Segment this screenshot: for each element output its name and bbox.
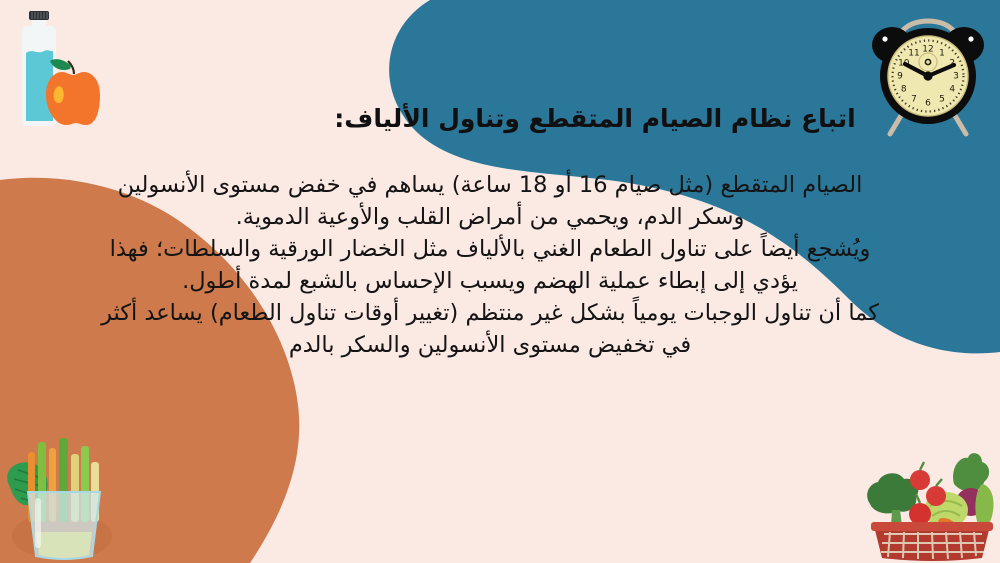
vegetable-basket-icon <box>858 444 998 562</box>
slide-canvas: 12 1 2 3 4 5 6 7 8 9 10 11 <box>0 0 1000 563</box>
glass-shine <box>35 498 41 548</box>
clock-subdial-pin <box>925 59 930 64</box>
tomato-1 <box>910 470 930 490</box>
svg-text:1: 1 <box>939 48 945 58</box>
slide-title: اتباع نظام الصيام المتقطع وتناول الألياف… <box>0 103 1000 134</box>
vegetable-sticks-in-glass-icon <box>2 432 127 562</box>
slide-body: الصيام المتقطع (مثل صيام 16 أو 18 ساعة) … <box>95 170 885 362</box>
svg-text:4: 4 <box>949 85 955 95</box>
body-paragraph-1: الصيام المتقطع (مثل صيام 16 أو 18 ساعة) … <box>95 170 885 234</box>
glass-liquid <box>36 532 92 558</box>
body-paragraph-3: كما أن تناول الوجبات يومياً بشكل غير منت… <box>95 298 885 362</box>
tomato-3 <box>909 503 931 525</box>
tomato-2 <box>926 486 946 506</box>
clock-bell-right-shine <box>968 36 973 41</box>
basket-rim <box>871 522 993 531</box>
svg-text:9: 9 <box>897 72 903 82</box>
svg-text:3: 3 <box>953 72 959 82</box>
svg-text:11: 11 <box>908 48 919 58</box>
clock-bell-left-shine <box>882 36 887 41</box>
zucchini <box>975 484 993 527</box>
clock-center-pin <box>923 71 932 80</box>
body-paragraph-2: ويُشجع أيضاً على تناول الطعام الغني بالأ… <box>95 234 885 298</box>
svg-text:8: 8 <box>901 85 907 95</box>
